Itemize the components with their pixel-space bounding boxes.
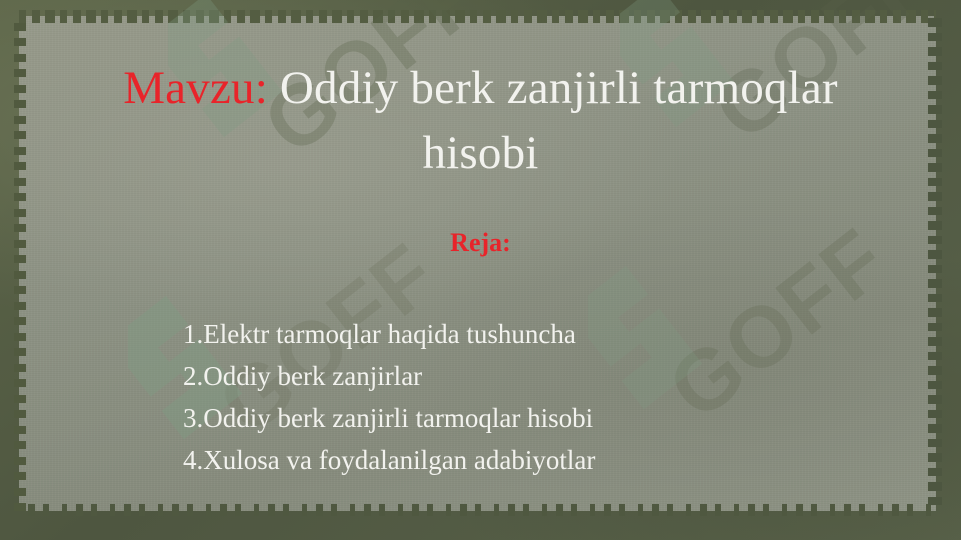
- slide-title-accent: Mavzu:: [123, 62, 268, 114]
- slide-title-main: Oddiy berk zanjirli tarmoqlar hisobi: [268, 62, 838, 179]
- agenda-list-item: 3.Oddiy berk zanjirli tarmoqlar hisobi: [183, 397, 595, 439]
- agenda-list-item: 1.Elektr tarmoqlar haqida tushuncha: [183, 313, 595, 355]
- agenda-list-item: 2.Oddiy berk zanjirlar: [183, 355, 595, 397]
- agenda-list-item: 4.Xulosa va foydalanilgan adabiyotlar: [183, 439, 595, 481]
- slide-title: Mavzu: Oddiy berk zanjirli tarmoqlar his…: [70, 56, 891, 186]
- presentation-slide: GOFF GOFF GOFF GOFF Mavzu: Oddi: [0, 0, 961, 540]
- slide-content: Mavzu: Oddiy berk zanjirli tarmoqlar his…: [0, 0, 961, 540]
- agenda-heading: Reja:: [0, 228, 961, 258]
- agenda-list: 1.Elektr tarmoqlar haqida tushuncha 2.Od…: [183, 313, 595, 481]
